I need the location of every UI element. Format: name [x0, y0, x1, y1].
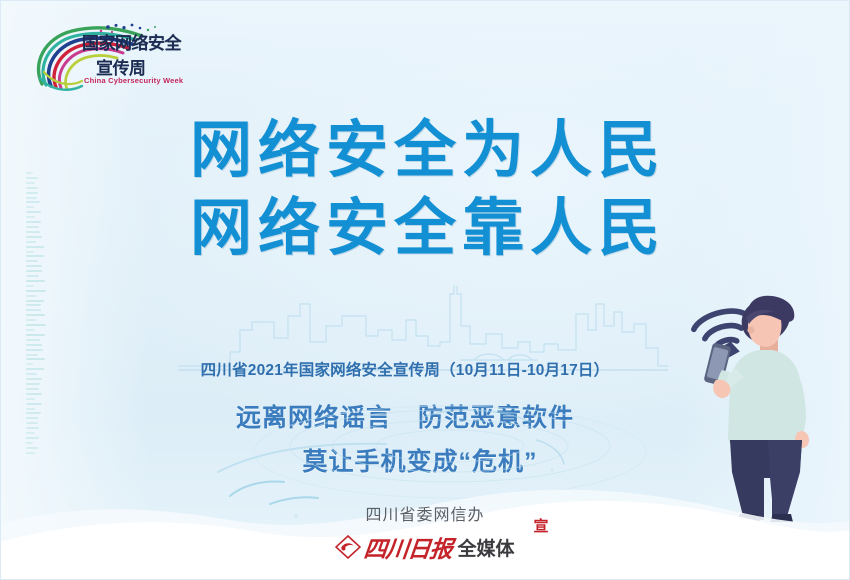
brand-name-text: 四川日报	[363, 530, 455, 564]
brand-media-text: 全媒体	[457, 534, 514, 561]
logo-title-line1: 国家网络安全	[82, 34, 181, 53]
footer-block: 四川省委网信办 四川日报 全媒体 宣	[0, 501, 850, 564]
footer-brand-lockup: 四川日报 全媒体 宣	[335, 530, 514, 564]
china-cybersecurity-week-logo: 国家网络安全 宣传周 China Cybersecurity Week	[24, 22, 184, 96]
poster-canvas: 国家网络安全 宣传周 China Cybersecurity Week 网络安全…	[0, 0, 850, 580]
sichuan-daily-emblem-icon	[335, 535, 361, 559]
footer-organization: 四川省委网信办	[0, 501, 850, 525]
logo-english-title: China Cybersecurity Week	[84, 76, 183, 85]
seal-character: 宣	[533, 515, 548, 536]
